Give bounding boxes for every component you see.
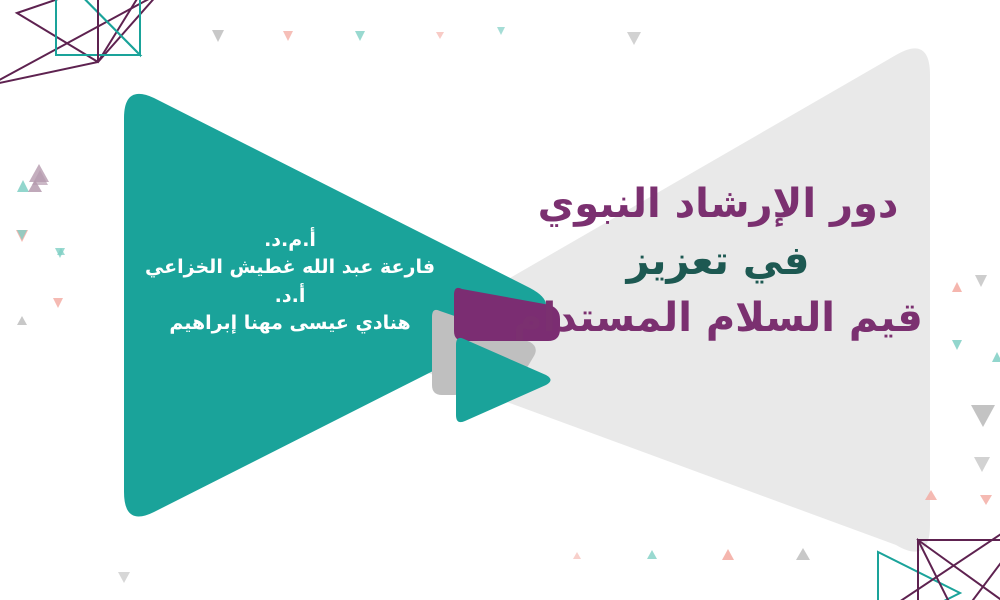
- title-line-2: في تعزيز: [508, 233, 928, 290]
- author-2-name: هنادي عيسى مهنا إبراهيم: [140, 310, 440, 338]
- slide-title: دور الإرشاد النبوي في تعزيز قيم السلام ا…: [508, 176, 928, 346]
- title-line-1: دور الإرشاد النبوي: [508, 176, 928, 233]
- authors-list: أ.م.د. فارعة عبد الله غطيش الخزاعي أ.د. …: [140, 228, 440, 337]
- author-2-rank: أ.د.: [140, 284, 440, 310]
- title-line-3: قيم السلام المستدام: [508, 290, 928, 347]
- author-1-name: فارعة عبد الله غطيش الخزاعي: [140, 254, 440, 282]
- presentation-cover-slide: دور الإرشاد النبوي في تعزيز قيم السلام ا…: [0, 0, 1000, 600]
- author-1-rank: أ.م.د.: [140, 228, 440, 254]
